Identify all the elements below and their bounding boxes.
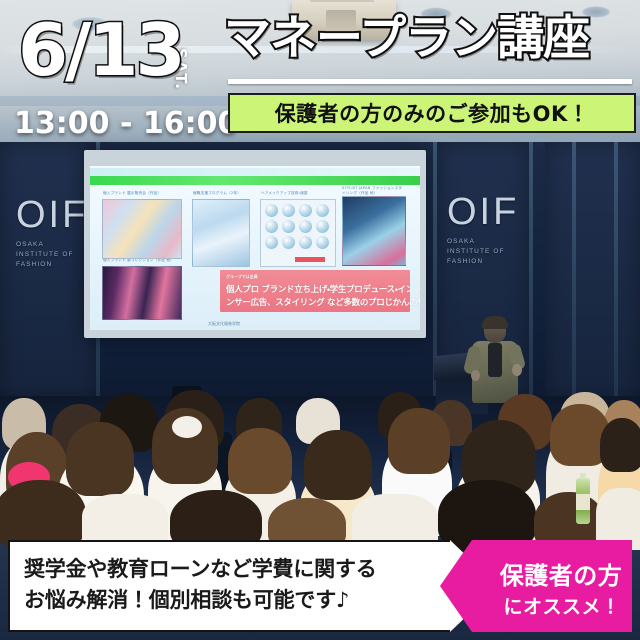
- title-underline-rule: [228, 79, 632, 84]
- slide-thumbnail: [260, 199, 336, 267]
- oif-sub-line-2: INSTITUTE OF: [447, 247, 519, 257]
- title-wrap: マネープラン講座: [224, 14, 628, 63]
- event-time: 13:00 - 16:00: [14, 106, 238, 141]
- oif-logo-subtext: OSAKA INSTITUTE OF FASHION: [16, 240, 88, 270]
- slide-icon-grid: [265, 204, 331, 262]
- audience-person: [66, 422, 134, 496]
- slide-caption: 個人ブランド 展示販売会（作品）: [103, 191, 161, 196]
- oif-logo-left: OIF OSAKA INSTITUTE OF FASHION: [16, 196, 88, 270]
- oif-sub-line-2: INSTITUTE OF: [16, 250, 88, 260]
- banner-description: 奨学金や教育ローンなど学費に関する お悩み解消！個別相談も可能です♪: [24, 554, 436, 616]
- presenter-hand-right: [512, 364, 522, 376]
- slide-thumbnail: [192, 199, 250, 267]
- slide-red-banner-line-1: 個人プロ ブランド立ち上げ・学生プロデュース・インフルエ: [226, 283, 420, 295]
- wall-seam: [614, 142, 618, 400]
- oif-logo-mark: OIF: [16, 196, 88, 234]
- audience-person: [388, 408, 450, 474]
- wall-panel-far-right: [545, 142, 640, 400]
- banner-pink-line-2: にオススメ！: [498, 592, 626, 619]
- slide-caption: ヘアメイクアップ技術・演習: [261, 191, 308, 196]
- slide-footer: 大阪文化服装学院: [208, 321, 240, 327]
- slide-thumbnail: [342, 196, 406, 266]
- audience-person: [228, 428, 292, 494]
- date-block: 6/13: [18, 16, 228, 85]
- banner-pink-panel: 保護者の方 にオススメ！: [440, 540, 632, 632]
- drink-bottle: [576, 478, 590, 524]
- slide-thumbnail: [102, 266, 182, 320]
- audience-person: [304, 430, 372, 500]
- slide-caption: STYLIST JAPAN ファッションスタイリング（作品 他）: [342, 186, 404, 195]
- wall-panel-left: [0, 142, 96, 400]
- presenter-hair: [482, 316, 508, 329]
- oif-sub-line-3: FASHION: [447, 257, 519, 267]
- banner-description-line-2: お悩み解消！個別相談も可能です♪: [24, 585, 436, 616]
- slide-red-banner: グループでは全員 個人プロ ブランド立ち上げ・学生プロデュース・インフルエ ンサ…: [220, 270, 410, 312]
- slide-thumbnail: [102, 199, 182, 259]
- oif-logo-subtext: OSAKA INSTITUTE OF FASHION: [447, 237, 519, 267]
- oif-sub-line-1: OSAKA: [16, 240, 88, 250]
- slide-thumb-accent: [295, 257, 325, 262]
- slide-red-banner-small: グループでは全員: [226, 274, 258, 280]
- event-date: 6/13: [18, 16, 228, 85]
- slide-red-banner-line-2: ンサー広告、スタイリング など多数のプロじかんの仕事: [226, 296, 420, 308]
- slide-caption: 就職支援プログラム（2年）: [193, 191, 241, 196]
- oif-sub-line-3: FASHION: [16, 260, 88, 270]
- projection-screen: 個人ブランド 展示販売会（作品） 就職支援プログラム（2年） ヘアメイクアップ技…: [90, 166, 420, 330]
- wall-seam: [572, 142, 576, 400]
- bottle-label: [576, 494, 590, 510]
- wall-seam: [529, 142, 533, 400]
- presenter-hand-left: [471, 370, 480, 381]
- page-title: マネープラン講座: [224, 14, 628, 63]
- oif-logo-right: OIF OSAKA INSTITUTE OF FASHION: [447, 193, 519, 267]
- poster-root: OIF OSAKA INSTITUTE OF FASHION OIF OSAKA…: [0, 0, 640, 640]
- presenter-speaker: [466, 318, 528, 404]
- slide-header-strip: [90, 168, 420, 176]
- green-notice-badge: 保護者の方のみのご参加もOK！: [228, 93, 636, 133]
- bottom-banner: 奨学金や教育ローンなど学費に関する お悩み解消！個別相談も可能です♪ 保護者の方…: [8, 540, 632, 632]
- oif-sub-line-1: OSAKA: [447, 237, 519, 247]
- presenter-shirt: [488, 343, 502, 377]
- banner-pink-line-1: 保護者の方: [498, 556, 624, 591]
- green-notice-badge-label: 保護者の方のみのご参加もOK！: [275, 98, 590, 128]
- hair-scrunchie-white: [172, 416, 202, 438]
- oif-logo-mark: OIF: [447, 193, 519, 231]
- banner-description-line-1: 奨学金や教育ローンなど学費に関する: [24, 554, 436, 585]
- audience-person: [600, 418, 640, 472]
- slide-green-bar: [90, 176, 420, 185]
